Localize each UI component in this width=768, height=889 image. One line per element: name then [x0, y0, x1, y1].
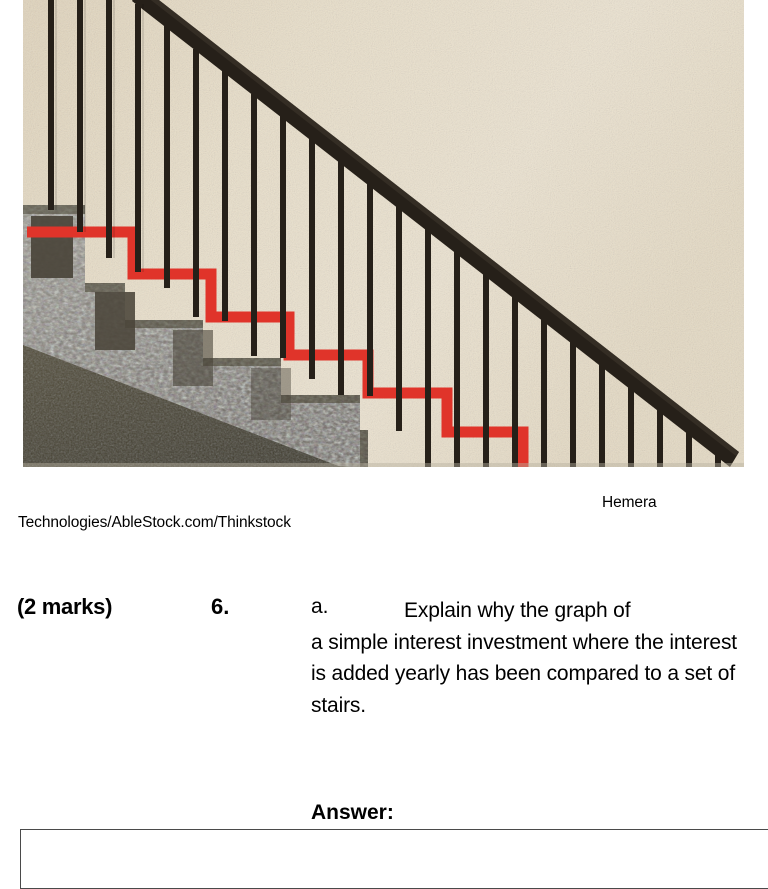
question-number: 6. — [211, 594, 229, 620]
photo-bottom-edge — [23, 463, 744, 467]
question-part-label: a. — [311, 595, 329, 619]
answer-label: Answer: — [311, 801, 394, 825]
photo-credit-line-2: Technologies/AbleStock.com/Thinkstock — [18, 513, 291, 532]
photo-credit-line-1: Hemera — [602, 493, 657, 512]
stairs-photo-svg — [23, 0, 744, 467]
stairs-photograph — [23, 0, 744, 467]
question-text-first-line: Explain why the graph of — [404, 595, 748, 627]
marks-label: (2 marks) — [17, 594, 112, 620]
question-text-body: a simple interest investment where the i… — [311, 627, 751, 722]
answer-input-box[interactable] — [20, 829, 768, 889]
